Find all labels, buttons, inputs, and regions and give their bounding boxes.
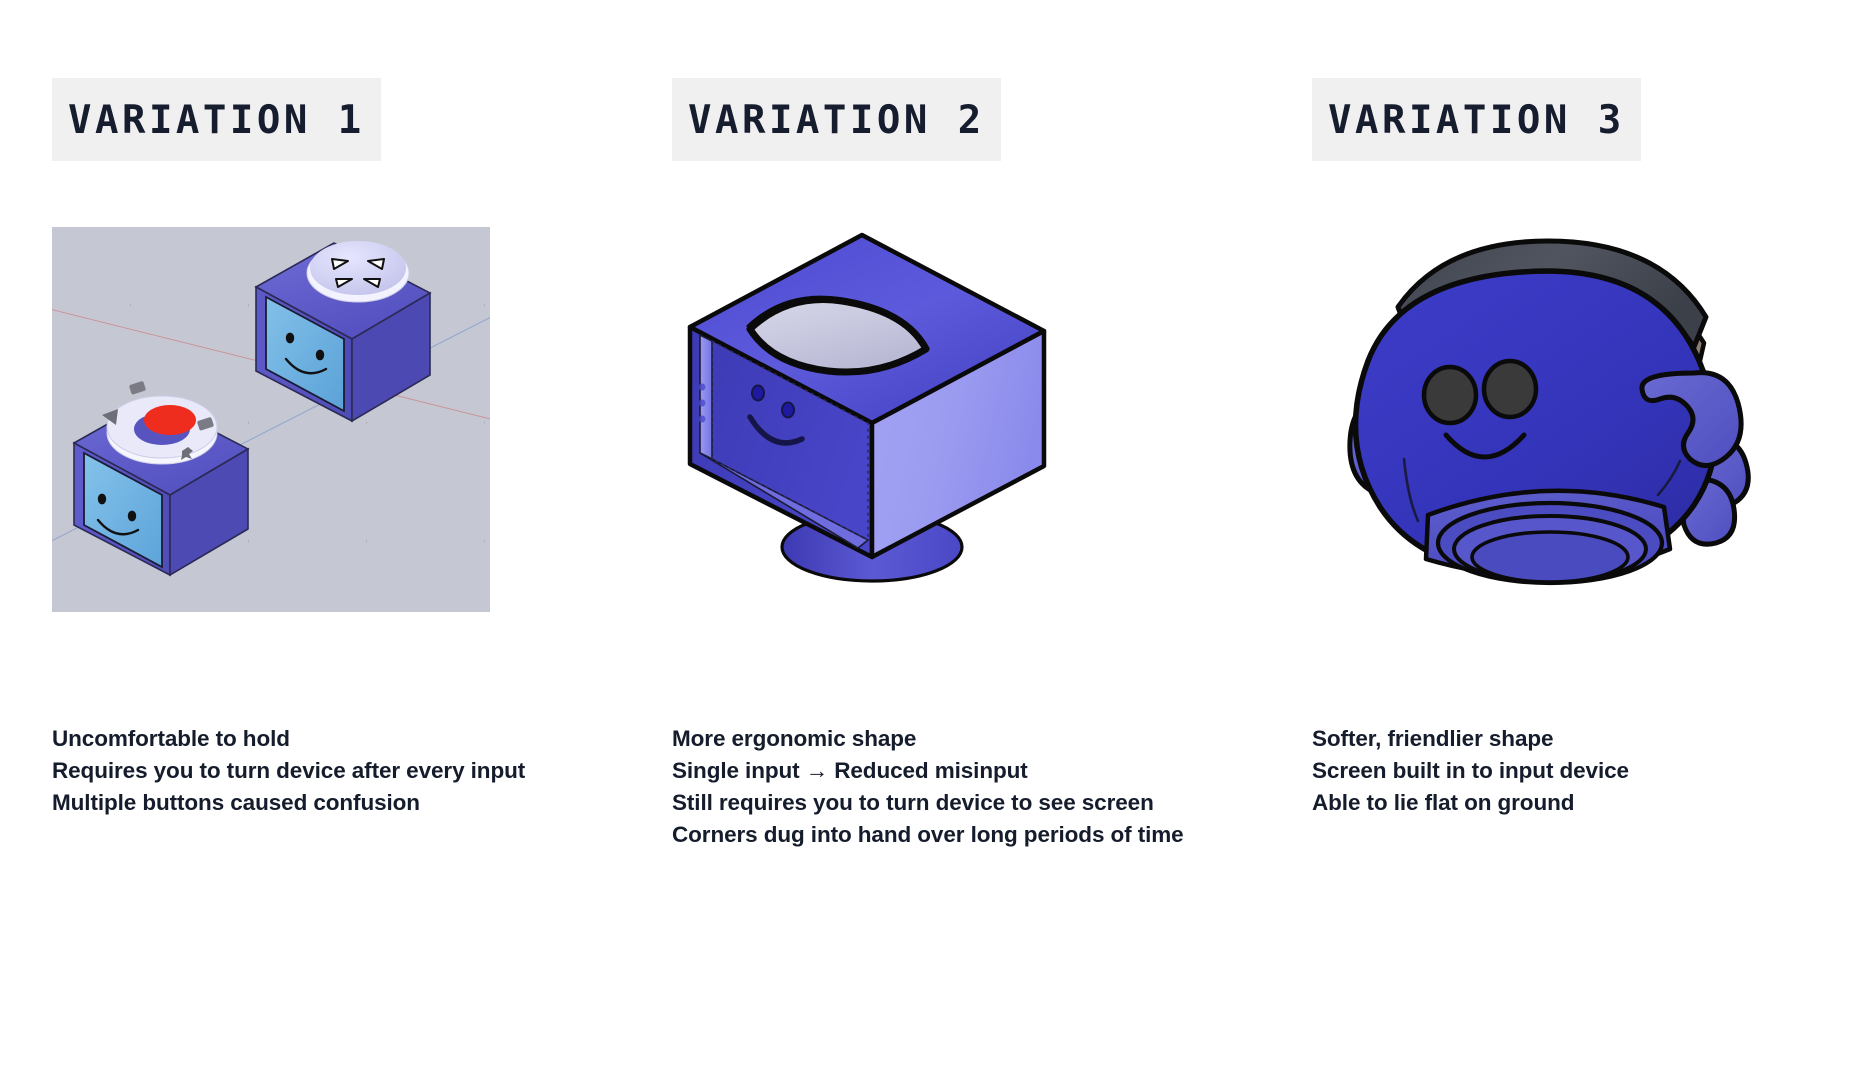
blob-device-wrap bbox=[1312, 227, 1782, 612]
cad-viewport bbox=[52, 227, 490, 612]
variation-1-bullets: Uncomfortable to hold Requires you to tu… bbox=[52, 723, 652, 819]
bullet-line: Single input → Reduced misinput bbox=[672, 755, 1292, 787]
variation-column-1: VARIATION 1 bbox=[52, 0, 652, 819]
variation-2-title: VARIATION 2 bbox=[672, 78, 1001, 161]
design-variations-board: VARIATION 1 bbox=[0, 0, 1861, 1080]
variation-3-title: VARIATION 3 bbox=[1312, 78, 1641, 161]
variation-columns: VARIATION 1 bbox=[0, 0, 1861, 851]
variation-1-title: VARIATION 1 bbox=[52, 78, 381, 161]
cube-device-ring bbox=[66, 377, 256, 592]
cube-device-halfmoon-wrap bbox=[672, 227, 1072, 612]
cube-device-halfmoon bbox=[672, 227, 1072, 612]
variation-2-figure bbox=[672, 227, 1292, 627]
variation-column-3: VARIATION 3 bbox=[1312, 0, 1861, 819]
bullet-line: Multiple buttons caused confusion bbox=[52, 787, 652, 819]
variation-3-bullets: Softer, friendlier shape Screen built in… bbox=[1312, 723, 1861, 819]
bullet-line: Corners dug into hand over long periods … bbox=[672, 819, 1292, 851]
bullet-line: More ergonomic shape bbox=[672, 723, 1292, 755]
blob-device bbox=[1312, 227, 1782, 612]
bullet-line: Still requires you to turn device to see… bbox=[672, 787, 1292, 819]
bullet-line: Uncomfortable to hold bbox=[52, 723, 652, 755]
cube-device-dpad bbox=[248, 235, 438, 445]
bullet-line: Requires you to turn device after every … bbox=[52, 755, 652, 787]
variation-1-figure bbox=[52, 227, 652, 627]
variation-3-figure bbox=[1312, 227, 1861, 627]
bullet-line: Screen built in to input device bbox=[1312, 755, 1861, 787]
variation-column-2: VARIATION 2 bbox=[672, 0, 1292, 851]
bullet-line: Able to lie flat on ground bbox=[1312, 787, 1861, 819]
bullet-line: Softer, friendlier shape bbox=[1312, 723, 1861, 755]
variation-2-bullets: More ergonomic shape Single input → Redu… bbox=[672, 723, 1292, 851]
